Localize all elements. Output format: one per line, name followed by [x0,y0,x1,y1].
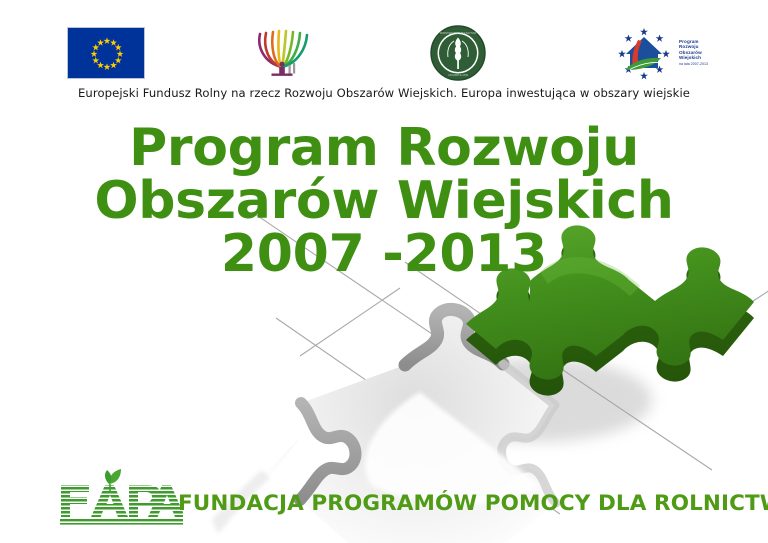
prow-years: na lata 2007-2013 [679,62,708,67]
svg-text:MINISTERSTWO ROLNICTWA: MINISTERSTWO ROLNICTWA [440,31,477,35]
piece-drop-shadow [428,358,652,442]
title-line-3: 2007 -2013 [0,228,768,281]
header-logo-strip: MINISTERSTWO ROLNICTWA I ROZWOJU WSI [0,22,768,84]
eu-stars-icon [68,28,146,80]
presentation-slide: MINISTERSTWO ROLNICTWA I ROZWOJU WSI [0,0,768,543]
eu-flag-logo [66,22,146,84]
fapa-letters [55,477,183,525]
title-line-1: Program Rozwoju [0,122,768,175]
footer-bar: FUNDACJA PROGRAMÓW POMOCY DLA ROLNICTWA [0,465,768,531]
eu-flag-graphic [67,27,145,79]
prow-line-4: Wiejskich [679,55,708,61]
footer-organization-name: FUNDACJA PROGRAMÓW POMOCY DLA ROLNICTWA [178,492,768,516]
leader-fan-icon [240,23,324,83]
leader-logo [240,22,324,84]
svg-text:I ROZWOJU WSI: I ROZWOJU WSI [448,73,468,77]
fapa-underline [60,519,183,525]
ministry-of-agriculture-logo: MINISTERSTWO ROLNICTWA I ROZWOJU WSI [420,22,496,84]
header-caption: Europejski Fundusz Rolny na rzecz Rozwoj… [0,86,768,100]
fapa-logo [55,467,183,527]
title-line-2: Obszarów Wiejskich [0,175,768,228]
ministry-seal-icon: MINISTERSTWO ROLNICTWA I ROZWOJU WSI [427,24,489,82]
prow-logo: Program Rozwoju Obszarów Wiejskich na la… [600,22,722,84]
page-title: Program Rozwoju Obszarów Wiejskich 2007 … [0,122,768,281]
prow-emblem-icon [614,24,676,82]
